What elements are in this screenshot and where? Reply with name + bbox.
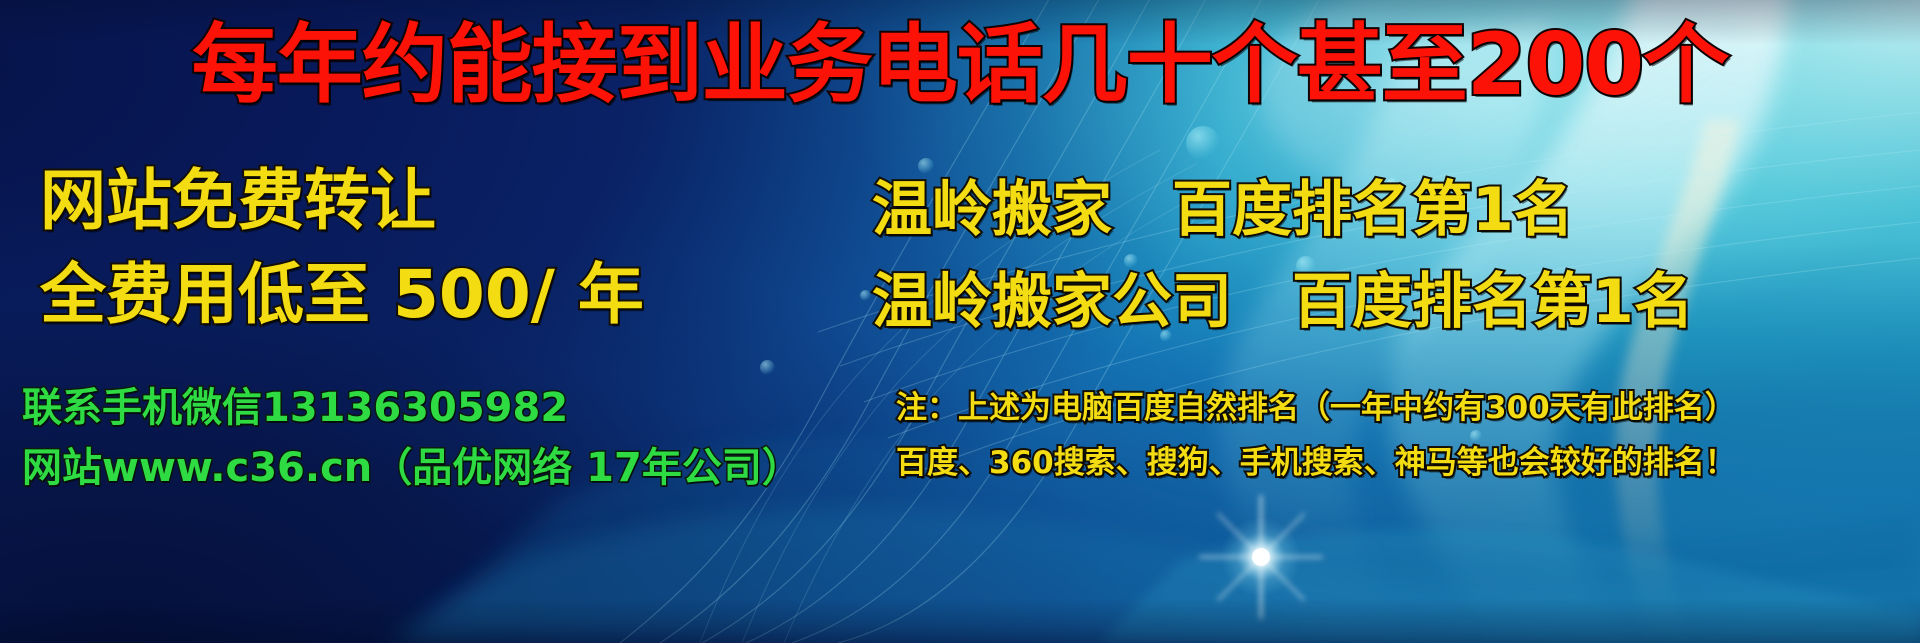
ranking-line-wenling-moving: 温岭搬家 百度排名第1名 (872, 180, 1574, 240)
contact-phone-wechat: 联系手机微信13136305982 (22, 388, 568, 428)
note-line-natural-ranking: 注：上述为电脑百度自然排名（一年中约有300天有此排名） (896, 393, 1736, 424)
offer-line-website-transfer: 网站免费转让 (40, 168, 436, 234)
text-layer: 每年约能接到业务电话几十个甚至200个 网站免费转让 全费用低至 500/ 年 … (0, 0, 1920, 643)
contact-website: 网站www.c36.cn（品优网络 17年公司） (22, 448, 802, 488)
note-line-other-engines: 百度、360搜索、搜狗、手机搜索、神马等也会较好的排名！ (896, 448, 1736, 479)
promo-banner: 每年约能接到业务电话几十个甚至200个 网站免费转让 全费用低至 500/ 年 … (0, 0, 1920, 643)
banner-headline: 每年约能接到业务电话几十个甚至200个 (0, 22, 1920, 108)
offer-line-price: 全费用低至 500/ 年 (40, 262, 644, 328)
ranking-line-wenling-moving-company: 温岭搬家公司 百度排名第1名 (872, 272, 1694, 332)
